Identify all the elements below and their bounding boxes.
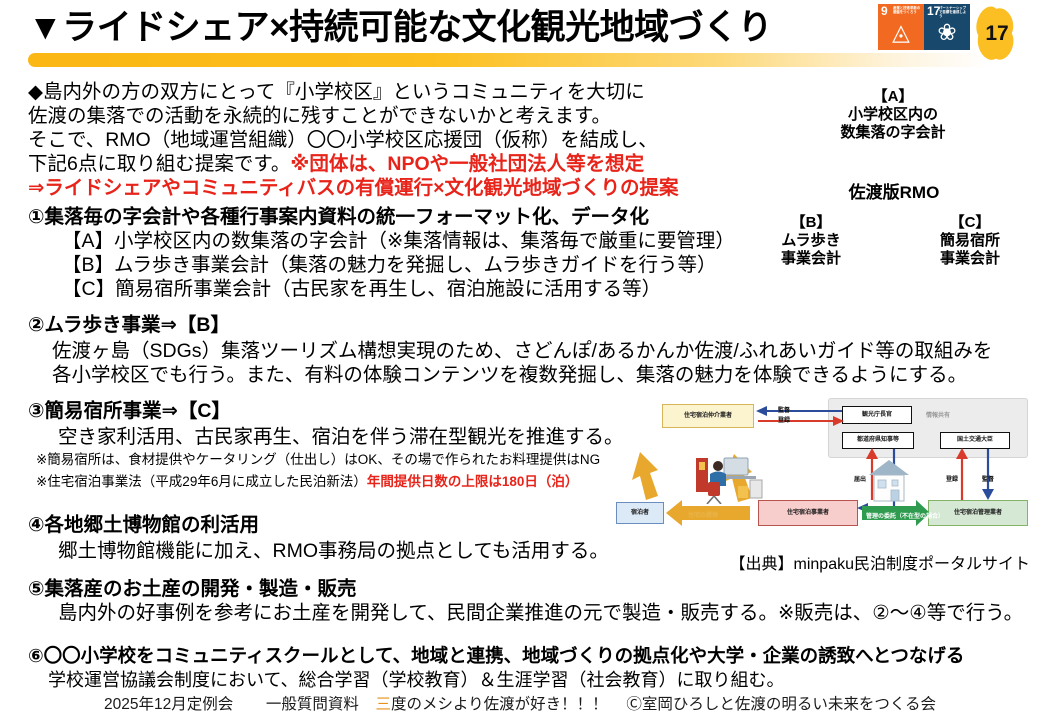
person-at-desk-icon bbox=[694, 452, 766, 504]
lead-line-4-red: ※団体は、NPOや一般社団法人等を想定 bbox=[290, 153, 644, 175]
sdg-badge-17: 17 パートナーシップで目標を達成しよう ❀ bbox=[924, 4, 970, 50]
footer-doc: 一般質問資料 bbox=[266, 696, 359, 713]
venn-label-a-title: 【A】 bbox=[827, 88, 959, 106]
lead-line-4: 下記6点に取り組む提案です。※団体は、NPOや一般社団法人等を想定 bbox=[28, 152, 644, 177]
venn-label-c: 【C】 簡易宿所 事業会計 bbox=[917, 214, 1023, 268]
sdg-industry-icon: ◬ bbox=[878, 19, 924, 45]
minpaku-label-supervise-1: 監督 bbox=[778, 405, 790, 414]
sdg-badge-group: 9 産業と技術革新の基盤をつくろう ◬ 17 パートナーシップで目標を達成しよう… bbox=[878, 4, 970, 50]
venn-center-label: 佐渡版RMO bbox=[821, 178, 967, 203]
venn-label-c-title: 【C】 bbox=[917, 214, 1023, 232]
slide-footer: 2025年12月定例会 一般質問資料 三度のメシより佐渡が好き！！！ Ⓒ室岡ひろ… bbox=[0, 692, 1040, 714]
sdg-badge-9-number: 9 bbox=[881, 5, 888, 17]
section-4-heading: ④各地郷土博物館の利活用 bbox=[28, 508, 259, 537]
title-underline-band bbox=[28, 53, 990, 67]
lead-line-5: ⇒ライドシェアやコミュニティバスの有償運行×文化観光地域づくりの提案 bbox=[28, 176, 679, 201]
minpaku-label-notify: 届出 bbox=[854, 474, 866, 483]
section-3-heading: ③簡易宿所事業⇒【C】 bbox=[28, 394, 231, 423]
section-6-heading: ⑥〇〇小学校をコミュニティスクールとして、地域と連携、地域づくりの拠点化や大学・… bbox=[28, 642, 964, 668]
sdg-badge-9-caption: 産業と技術革新の基盤をつくろう bbox=[893, 6, 922, 14]
minpaku-arrows bbox=[610, 396, 1030, 546]
minpaku-label-register-2: 登録 bbox=[946, 474, 958, 483]
minpaku-label-supervise-3: 監督 bbox=[982, 474, 994, 483]
page-number: 17 bbox=[975, 22, 1019, 46]
section-3-item-0: 空き家利活用、古民家再生、宿泊を伴う滞在型観光を推進する。 bbox=[58, 420, 624, 449]
section-3-note-1-red: 年間提供日数の上限は180日（泊） bbox=[367, 474, 579, 489]
sdg-badge-17-caption: パートナーシップで目標を達成しよう bbox=[939, 6, 968, 19]
section-2-heading: ②ムラ歩き事業⇒【B】 bbox=[28, 308, 230, 337]
venn-label-b-title: 【B】 bbox=[759, 214, 863, 232]
lead-line-2: 佐渡の集落での活動を永続的に残すことができないかと考えます。 bbox=[28, 104, 611, 129]
section-3-note-1-black: ※住宅宿泊事業法（平成29年6月に成立した民泊新法） bbox=[36, 474, 367, 489]
sdg-partnership-icon: ❀ bbox=[924, 19, 970, 45]
section-2-item-1: 各小学校区でも行う。また、有料の体験コンテンツを複数発掘し、集落の魅力を体験でき… bbox=[52, 358, 967, 387]
house-icon bbox=[868, 458, 910, 502]
section-4-item-0: 郷土博物館機能に加え、RMO事務局の拠点としても活用する。 bbox=[58, 534, 609, 563]
venn-label-c-line2: 事業会計 bbox=[917, 250, 1023, 268]
lead-line-1: ◆島内外の方の双方にとって『小学校区』というコミュニティを大切に bbox=[28, 80, 645, 105]
section-5-item-0: 島内外の好事例を参考にお土産を開発して、民間企業推進の元で製造・販売する。※販売… bbox=[58, 596, 1023, 625]
page-number-badge: 17 bbox=[975, 6, 1019, 62]
section-3-note-1: ※住宅宿泊事業法（平成29年6月に成立した民泊新法）年間提供日数の上限は180日… bbox=[36, 470, 578, 490]
venn-label-a: 【A】 小学校区内の 数集落の字会計 bbox=[827, 88, 959, 142]
venn-label-b-line1: ムラ歩き bbox=[759, 232, 863, 250]
minpaku-source-credit: 【出典】minpaku民泊制度ポータルサイト bbox=[610, 550, 1030, 574]
section-3-note-0: ※簡易宿所は、食材提供やケータリング（仕出し）はOK、その場で作られたお料理提供… bbox=[36, 448, 600, 468]
venn-label-b-line2: 事業会計 bbox=[759, 250, 863, 268]
venn-label-a-line2: 数集落の字会計 bbox=[827, 124, 959, 142]
venn-label-a-line1: 小学校区内の bbox=[827, 106, 959, 124]
venn-label-b: 【B】 ムラ歩き 事業会計 bbox=[759, 214, 863, 268]
footer-slogan-rest: 度のメシより佐渡が好き！！！ bbox=[391, 696, 608, 713]
slide-root: ▼ライドシェア×持続可能な文化観光地域づくり 9 産業と技術革新の基盤をつくろう… bbox=[0, 0, 1040, 720]
minpaku-label-provide-home: 住宅の提供 bbox=[688, 510, 718, 519]
footer-credit: Ⓒ室岡ひろしと佐渡の明るい未来をつくる会 bbox=[626, 696, 936, 713]
minpaku-label-entrust: 管理の委託（不在型の場合） bbox=[866, 511, 944, 520]
section-6-item-0: 学校運営協議会制度において、総合学習（学校教育）＆生涯学習（社会教育）に取り組む… bbox=[48, 666, 785, 692]
lead-line-3: そこで、RMO（地域運営組織）〇〇小学校区応援団（仮称）を結成し、 bbox=[28, 128, 658, 153]
sdg-badge-9: 9 産業と技術革新の基盤をつくろう ◬ bbox=[878, 4, 924, 50]
minpaku-label-register-1: 登録 bbox=[778, 415, 790, 424]
footer-slogan-accent: 三 bbox=[375, 696, 391, 713]
venn-diagram: 【A】 小学校区内の 数集落の字会計 【B】 ムラ歩き 事業会計 【C】 簡易宿… bbox=[757, 74, 1029, 296]
lead-line-4-black: 下記6点に取り組む提案です。 bbox=[28, 153, 290, 175]
venn-label-c-line1: 簡易宿所 bbox=[917, 232, 1023, 250]
minpaku-system-diagram: 情報共有 住宅宿泊仲介業者 観光庁長官 都道府県知事等 国土交通大臣 宿泊者 住… bbox=[610, 396, 1030, 546]
section-1-item-2: 【C】簡易宿所事業会計（古民家を再生し、宿泊施設に活用する等） bbox=[62, 272, 661, 301]
footer-date: 2025年12月定例会 bbox=[104, 696, 233, 713]
page-title: ▼ライドシェア×持続可能な文化観光地域づくり bbox=[28, 6, 772, 50]
